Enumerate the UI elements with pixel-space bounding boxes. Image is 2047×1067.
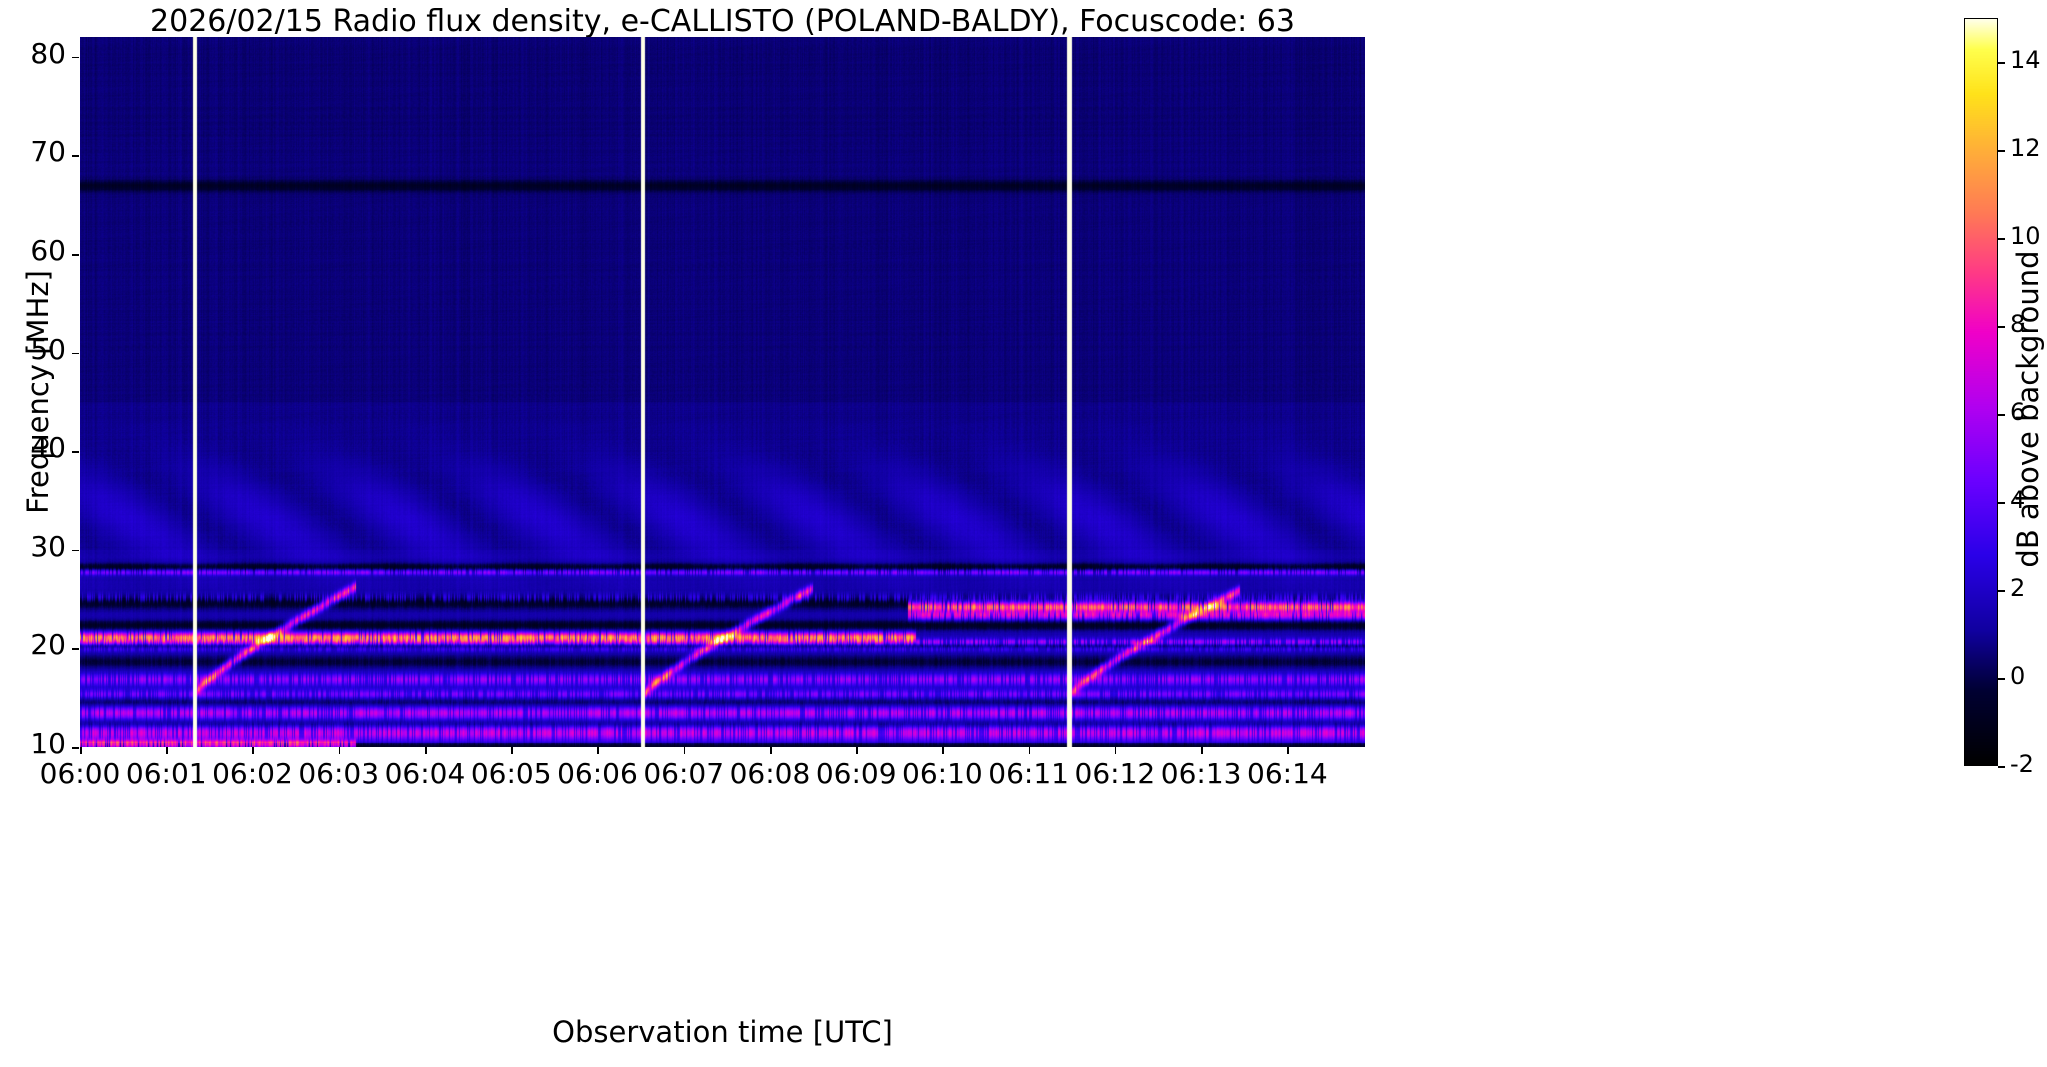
y-tick-label: 10	[0, 730, 66, 758]
x-tick-mark	[1287, 747, 1289, 754]
colorbar-tick-mark	[1998, 502, 2005, 504]
x-tick-mark	[856, 747, 858, 754]
colorbar-label: dB above background	[2011, 149, 2045, 669]
x-axis-label: Observation time [UTC]	[80, 1015, 1365, 1049]
x-tick-mark	[942, 747, 944, 754]
x-tick-mark	[252, 747, 254, 754]
colorbar-tick-mark	[1998, 590, 2005, 592]
y-tick-label: 40	[0, 434, 66, 462]
colorbar	[1964, 18, 1998, 766]
x-tick-mark	[597, 747, 599, 754]
y-tick-mark	[72, 353, 79, 355]
y-axis-label: Frequency [MHz]	[21, 122, 55, 662]
spectrogram-image	[80, 37, 1365, 747]
y-tick-label: 80	[0, 40, 66, 68]
y-tick-label: 30	[0, 533, 66, 561]
y-tick-label: 60	[0, 237, 66, 265]
x-tick-mark	[166, 747, 168, 754]
x-tick-mark	[425, 747, 427, 754]
colorbar-tick-label: -2	[2010, 752, 2047, 776]
y-tick-label: 70	[0, 138, 66, 166]
x-tick-mark	[684, 747, 686, 754]
x-tick-mark	[339, 747, 341, 754]
x-tick-mark	[1201, 747, 1203, 754]
x-tick-mark	[511, 747, 513, 754]
colorbar-tick-mark	[1998, 62, 2005, 64]
y-tick-label: 50	[0, 336, 66, 364]
y-tick-mark	[72, 550, 79, 552]
colorbar-tick-mark	[1998, 678, 2005, 680]
colorbar-tick-mark	[1998, 326, 2005, 328]
colorbar-tick-mark	[1998, 766, 2005, 768]
y-tick-mark	[72, 57, 79, 59]
x-tick-mark	[770, 747, 772, 754]
colorbar-tick-mark	[1998, 150, 2005, 152]
colorbar-tick-label: 14	[2010, 48, 2047, 72]
y-tick-mark	[72, 747, 79, 749]
x-tick-mark	[80, 747, 82, 754]
spectrogram-plot-area	[80, 37, 1365, 747]
y-tick-label: 20	[0, 631, 66, 659]
colorbar-tick-mark	[1998, 414, 2005, 416]
colorbar-gradient	[1965, 19, 1997, 765]
spectrogram-figure: 2026/02/15 Radio flux density, e-CALLIST…	[0, 0, 2047, 1067]
y-tick-mark	[72, 254, 79, 256]
x-tick-label: 06:14	[1217, 757, 1357, 790]
y-tick-mark	[72, 155, 79, 157]
page-title: 2026/02/15 Radio flux density, e-CALLIST…	[80, 4, 1365, 39]
y-tick-mark	[72, 648, 79, 650]
y-tick-mark	[72, 451, 79, 453]
x-tick-mark	[1029, 747, 1031, 754]
x-tick-mark	[1115, 747, 1117, 754]
colorbar-tick-mark	[1998, 238, 2005, 240]
